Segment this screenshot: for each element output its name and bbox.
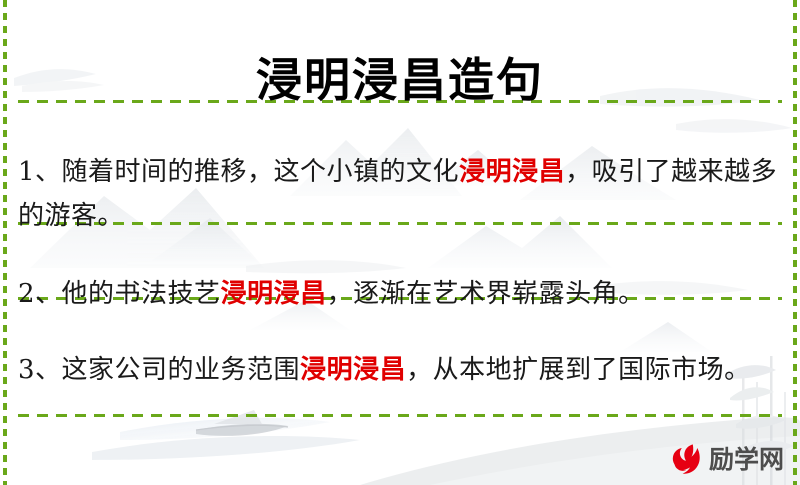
list-item: 1、随着时间的推移，这个小镇的文化浸明浸昌，吸引了越来越多的游客。 [18, 150, 780, 238]
sentence-text-after: ，从本地扩展到了国际市场。 [406, 355, 751, 385]
flame-swirl-glyph [668, 442, 704, 478]
keyword-highlight: 浸明浸昌 [221, 279, 327, 309]
keyword-highlight: 浸明浸昌 [300, 355, 406, 385]
red-flame-swirl-icon [668, 442, 704, 478]
sentence-index: 2、 [18, 279, 62, 309]
sentence-text-after: ，逐渐在艺术界崭露头角。 [327, 279, 645, 309]
site-logo-label: 励学网 [709, 445, 784, 475]
sentence-index: 1、 [18, 157, 62, 187]
page-root: 浸明浸昌造句 1、随着时间的推移，这个小镇的文化浸明浸昌，吸引了越来越多的游客。… [0, 0, 800, 485]
page-title: 浸明浸昌造句 [0, 49, 800, 111]
divider-after-sentence-3 [18, 414, 782, 417]
list-item: 3、这家公司的业务范围浸明浸昌，从本地扩展到了国际市场。 [18, 348, 780, 392]
sentence-text-before: 这家公司的业务范围 [62, 355, 301, 385]
keyword-highlight: 浸明浸昌 [459, 157, 565, 187]
sentence-index: 3、 [18, 355, 62, 385]
sentence-text-before: 他的书法技艺 [62, 279, 221, 309]
list-item: 2、他的书法技艺浸明浸昌，逐渐在艺术界崭露头角。 [18, 272, 780, 316]
site-logo-watermark[interactable]: 励学网 [668, 438, 792, 482]
sentence-text-before: 随着时间的推移，这个小镇的文化 [62, 157, 460, 187]
